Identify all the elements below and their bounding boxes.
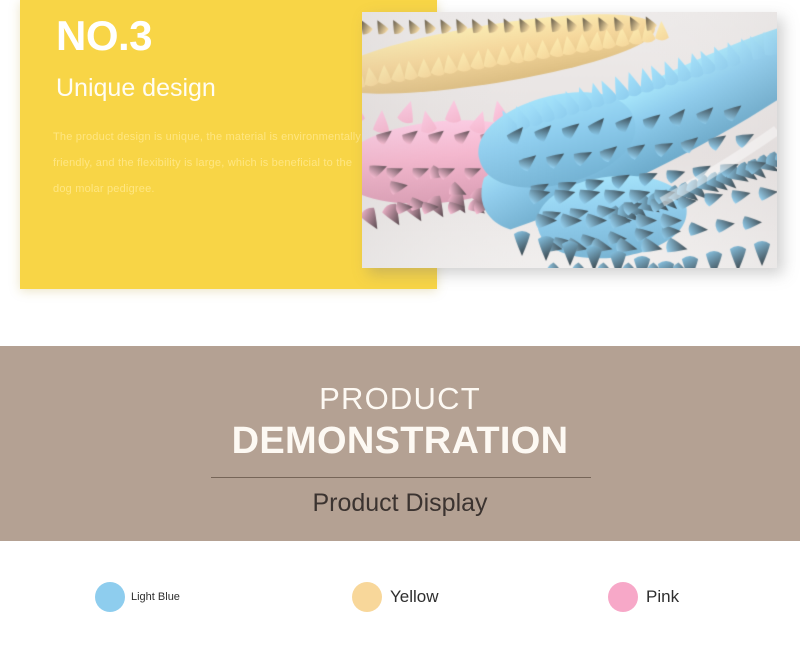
- color-swatch-row: Light Blue Yellow Pink: [0, 541, 800, 655]
- product-photo-canvas: [362, 12, 777, 268]
- banner-title-bold: DEMONSTRATION: [0, 422, 800, 460]
- banner-subtitle: Product Display: [0, 487, 800, 520]
- hero-body-text: The product design is unique, the materi…: [53, 125, 373, 203]
- swatch-dot-icon: [352, 582, 382, 612]
- product-demonstration-banner: PRODUCT DEMONSTRATION Product Display: [0, 346, 800, 541]
- swatch-dot-icon: [608, 582, 638, 612]
- swatch-label: Light Blue: [131, 591, 180, 603]
- swatch-label: Yellow: [390, 587, 439, 607]
- swatch-dot-icon: [95, 582, 125, 612]
- swatch-light-blue[interactable]: Light Blue: [95, 582, 180, 612]
- swatch-yellow[interactable]: Yellow: [352, 582, 439, 612]
- banner-divider: [211, 477, 591, 478]
- banner-title-light: PRODUCT: [0, 383, 800, 414]
- swatch-pink[interactable]: Pink: [608, 582, 679, 612]
- hero-subtitle: Unique design: [56, 72, 216, 105]
- product-photo: [362, 12, 777, 268]
- swatch-label: Pink: [646, 587, 679, 607]
- hero-number: NO.3: [56, 12, 152, 60]
- hero-section: NO.3 Unique design The product design is…: [0, 0, 800, 340]
